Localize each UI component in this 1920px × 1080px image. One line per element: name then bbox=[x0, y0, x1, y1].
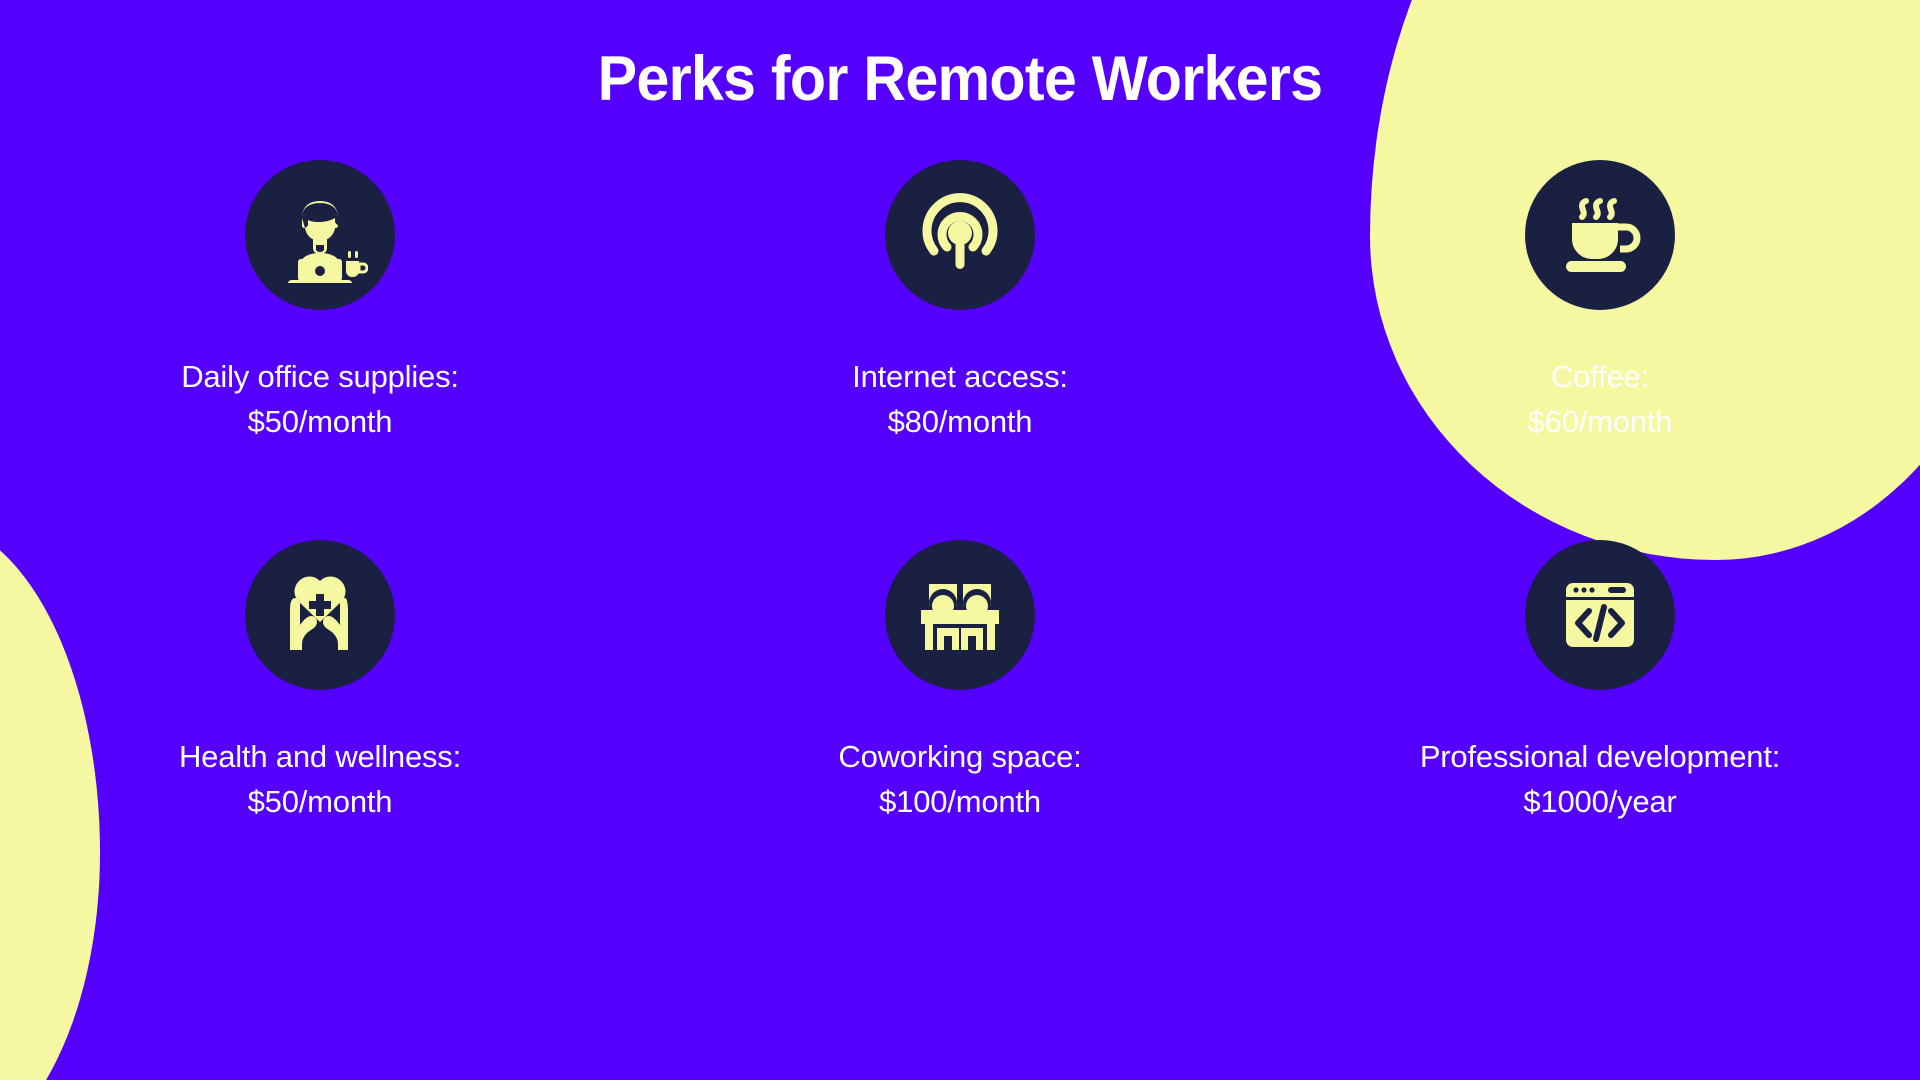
perk-label: Coworking space: $100/month bbox=[838, 734, 1081, 825]
perk-item-health-and-wellness: Health and wellness: $50/month bbox=[0, 540, 640, 920]
perk-icon-circle bbox=[245, 540, 395, 690]
perk-amount-text: $50/month bbox=[179, 779, 461, 824]
perk-amount-text: $50/month bbox=[181, 399, 459, 444]
perk-label: Internet access: $80/month bbox=[852, 354, 1068, 445]
perk-icon-circle bbox=[885, 540, 1035, 690]
perk-label-text: Coffee: bbox=[1551, 359, 1649, 394]
perk-amount-text: $100/month bbox=[838, 779, 1081, 824]
perk-item-professional-development: Professional development: $1000/year bbox=[1280, 540, 1920, 920]
infographic-canvas: Perks for Remote Workers bbox=[0, 0, 1920, 1080]
person-at-laptop-icon bbox=[272, 187, 368, 283]
perk-label-text: Professional development: bbox=[1420, 739, 1780, 774]
perk-icon-circle bbox=[885, 160, 1035, 310]
perk-amount-text: $60/month bbox=[1528, 399, 1673, 444]
perk-label-text: Daily office supplies: bbox=[181, 359, 459, 394]
perk-label: Daily office supplies: $50/month bbox=[181, 354, 459, 445]
perk-item-daily-office-supplies: Daily office supplies: $50/month bbox=[0, 160, 640, 540]
perk-amount-text: $1000/year bbox=[1420, 779, 1780, 824]
perks-grid: Daily office supplies: $50/month Interne… bbox=[0, 160, 1920, 920]
perk-label: Professional development: $1000/year bbox=[1420, 734, 1780, 825]
perk-amount-text: $80/month bbox=[852, 399, 1068, 444]
perk-label: Coffee: $60/month bbox=[1528, 354, 1673, 445]
perk-label-text: Coworking space: bbox=[838, 739, 1081, 774]
perk-item-coffee: Coffee: $60/month bbox=[1280, 160, 1920, 540]
hands-holding-heart-icon bbox=[273, 568, 367, 662]
broadcast-signal-icon bbox=[914, 189, 1006, 281]
perk-label: Health and wellness: $50/month bbox=[179, 734, 461, 825]
perk-item-coworking-space: Coworking space: $100/month bbox=[640, 540, 1280, 920]
code-window-icon bbox=[1556, 571, 1644, 659]
page-title: Perks for Remote Workers bbox=[58, 44, 1863, 115]
coffee-cup-icon bbox=[1554, 189, 1646, 281]
perk-icon-circle bbox=[1525, 540, 1675, 690]
coworking-desk-icon bbox=[915, 570, 1005, 660]
perk-icon-circle bbox=[1525, 160, 1675, 310]
perk-icon-circle bbox=[245, 160, 395, 310]
perk-item-internet-access: Internet access: $80/month bbox=[640, 160, 1280, 540]
perk-label-text: Internet access: bbox=[852, 359, 1068, 394]
perk-label-text: Health and wellness: bbox=[179, 739, 461, 774]
